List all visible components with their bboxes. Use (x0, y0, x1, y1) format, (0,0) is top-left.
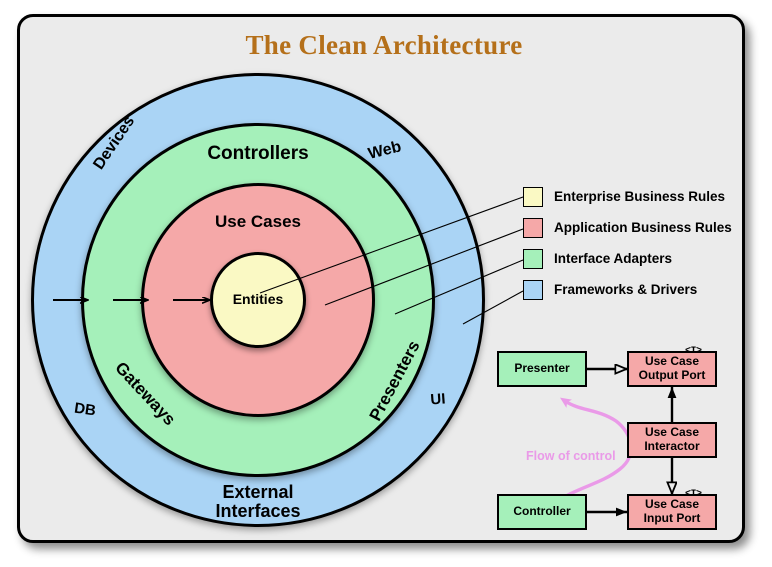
uml-box-presenter[interactable]: Presenter (497, 351, 587, 387)
uml-flow-diagram: Use Case Output Port (solid up) --> Use … (20, 17, 748, 546)
flow-of-control-label: Flow of control (526, 449, 616, 463)
uml-box-presenter-label: Presenter (514, 362, 569, 376)
input-port-line1: Use Case (644, 498, 701, 512)
uml-box-use-case-interactor[interactable]: Use Case Interactor (627, 422, 717, 458)
uml-box-controller[interactable]: Controller (497, 494, 587, 530)
output-port-line1: Use Case (639, 355, 706, 369)
diagram-frame: The Clean Architecture Controllers Use C… (17, 14, 745, 543)
input-port-line2: Input Port (644, 512, 701, 526)
interactor-line1: Use Case (644, 426, 699, 440)
interface-marker-output-port: <I> (685, 346, 702, 357)
uml-connectors: Use Case Output Port (solid up) --> Use … (20, 17, 748, 546)
interactor-line2: Interactor (644, 440, 699, 454)
output-port-line2: Output Port (639, 369, 706, 383)
uml-box-use-case-output-port[interactable]: Use Case Output Port (627, 351, 717, 387)
uml-box-use-case-input-port[interactable]: Use Case Input Port (627, 494, 717, 530)
interface-marker-input-port: <I> (685, 489, 702, 500)
uml-box-controller-label: Controller (513, 505, 570, 519)
